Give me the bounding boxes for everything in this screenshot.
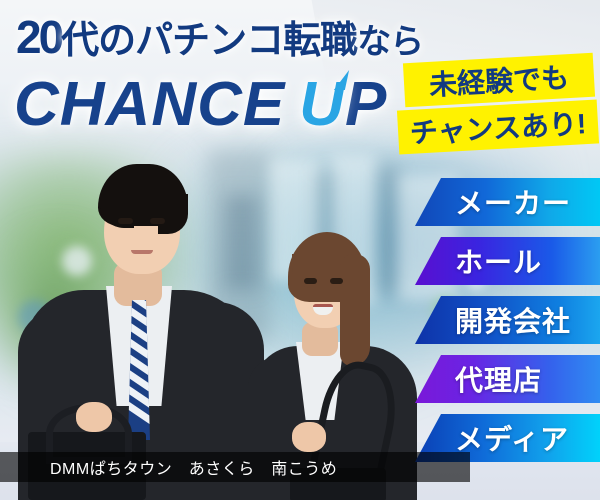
man-mouth [131,250,153,254]
logo-letter-p: P [345,70,387,139]
logo-chance-up: CHANCEUP [14,68,434,144]
category-tag-list: メーカー ホール 開発会社 代理店 メディア [415,178,600,473]
tag-agency[interactable]: 代理店 [415,355,600,403]
tag-hall[interactable]: ホール [415,237,600,285]
page-title: 20代のパチンコ転職なら [16,14,416,60]
tag-media-label: メディア [455,418,569,458]
badge-chance-available-label: チャンスあり! [409,102,587,152]
tag-development-company[interactable]: 開発会社 [415,296,600,344]
logo-word-chance: CHANCE [14,70,285,139]
man-hand [76,402,112,432]
tag-hall-label: ホール [455,241,542,281]
caption-bar: DMMぱちタウン あさくら 南こうめ [0,452,470,482]
woman-eye-right [330,278,343,284]
logo-letter-u: U [299,68,345,142]
logo-word-up: UP [299,70,387,139]
woman-eye-left [304,278,317,284]
badge-no-experience-label: 未経験でも [428,56,570,104]
man-eye-left [118,218,133,224]
man-eye-right [150,218,165,224]
caption-text: DMMぱちタウン あさくら 南こうめ [50,455,337,479]
people-photo [0,150,420,500]
woman-hand [292,422,326,452]
advertisement-banner[interactable]: 20代のパチンコ転職なら CHANCEUP 未経験でも チャンスあり! メーカー… [0,0,600,500]
woman-hair-side [340,254,370,366]
headline-number: 20 [16,11,61,63]
tag-development-company-label: 開発会社 [455,300,571,340]
headline-middle: 代のパチンコ転職 [61,20,357,62]
man-hair-fringe-right [158,194,188,234]
tag-maker[interactable]: メーカー [415,178,600,226]
tag-maker-label: メーカー [455,182,571,222]
tag-agency-label: 代理店 [455,359,542,399]
headline-tail: なら [357,23,423,61]
